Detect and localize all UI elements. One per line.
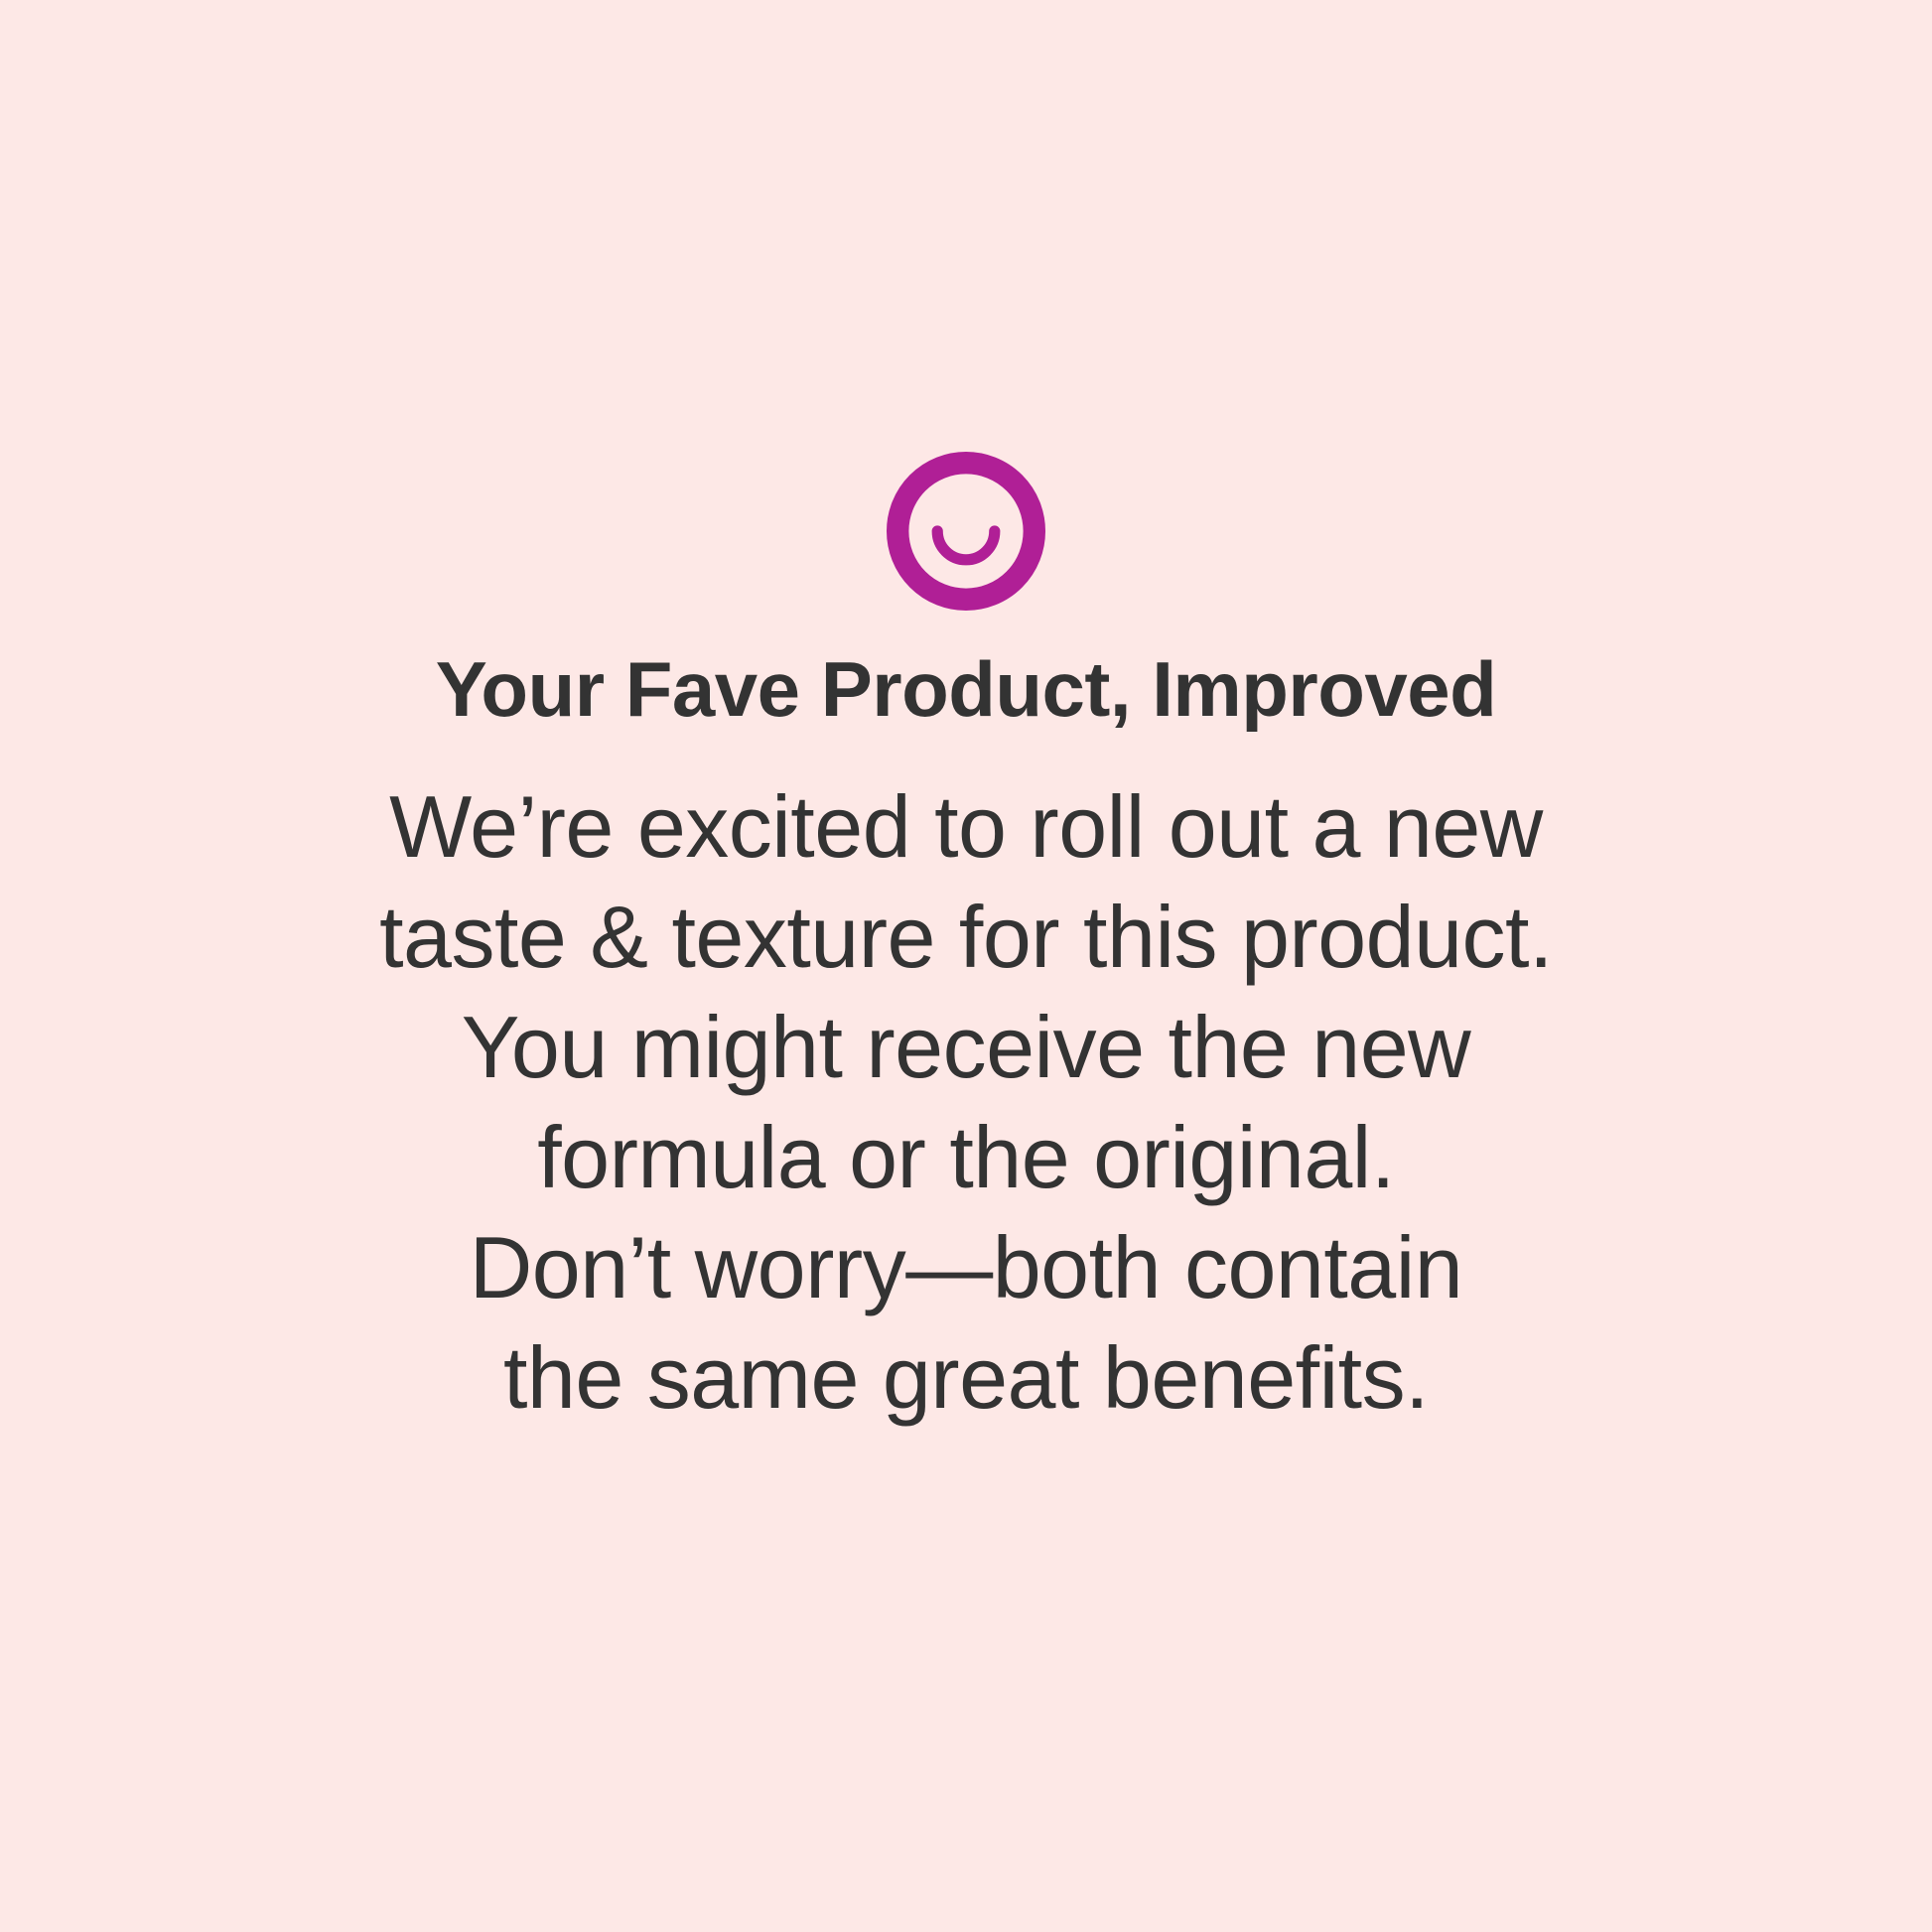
body-line: You might receive the new <box>172 993 1760 1103</box>
page-title: Your Fave Product, Improved <box>192 646 1740 733</box>
smiley-ring-logo-icon <box>887 452 1045 611</box>
body-line: taste & texture for this product. <box>172 883 1760 993</box>
body-line: formula or the original. <box>172 1103 1760 1213</box>
body-copy: We’re excited to roll out a new taste & … <box>172 772 1760 1433</box>
body-line: We’re excited to roll out a new <box>172 772 1760 883</box>
body-line: Don’t worry—both contain <box>172 1213 1760 1323</box>
body-line: the same great benefits. <box>172 1323 1760 1434</box>
announcement-card: Your Fave Product, Improved We’re excite… <box>0 0 1932 1932</box>
